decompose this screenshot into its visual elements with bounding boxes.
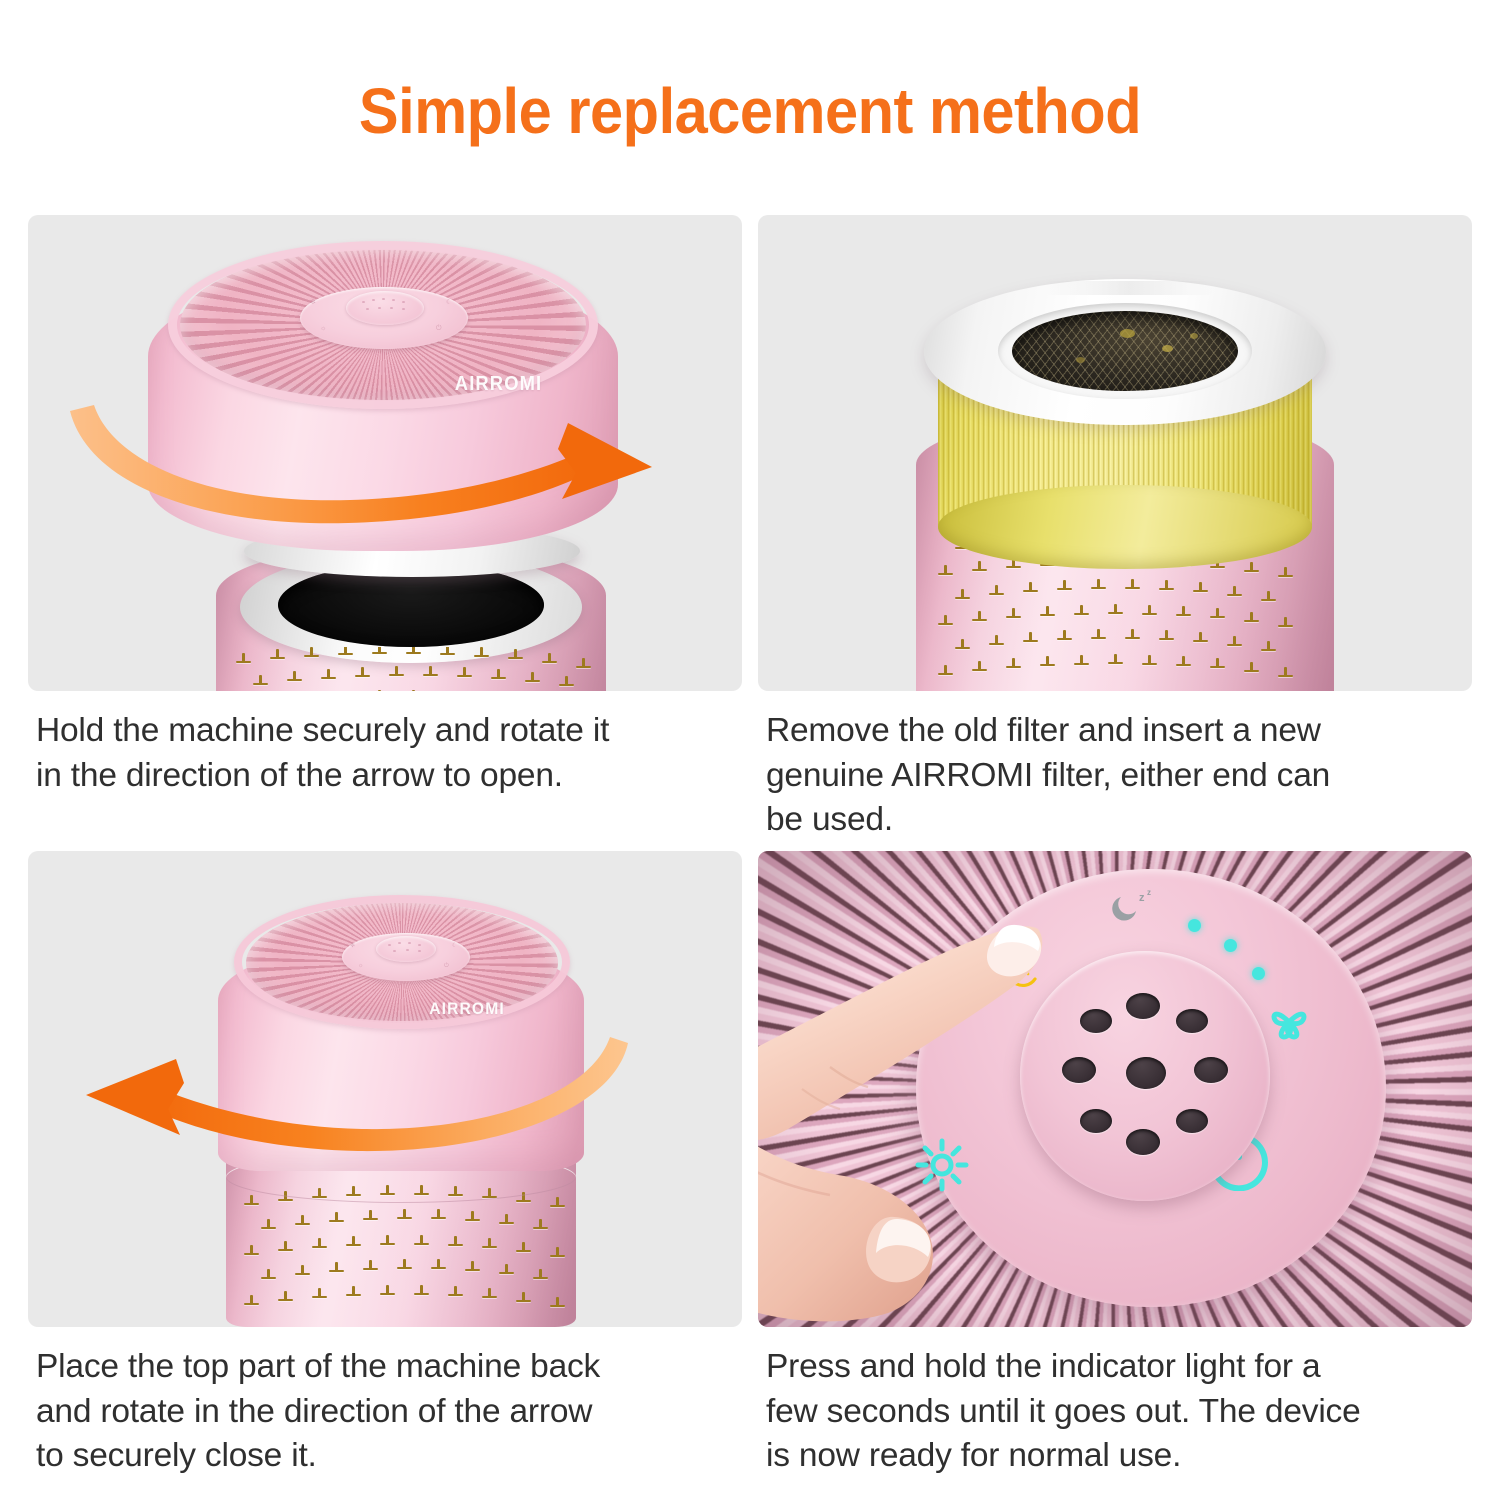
rotate-arrow-icon <box>28 851 742 1327</box>
caption-line: Remove the old filter and insert a new <box>766 709 1466 754</box>
step-4-caption: Press and hold the indicator light for a… <box>766 1345 1466 1479</box>
step-1-photo: ✻ ☾ ☼ ⏻ AIRROMI <box>28 215 742 691</box>
dust-specks <box>1012 311 1238 391</box>
caption-line: to securely close it. <box>36 1434 736 1479</box>
steps-grid: ✻ ☾ ☼ ⏻ AIRROMI Hol <box>28 215 1472 1483</box>
caption-line: and rotate in the direction of the arrow <box>36 1390 736 1435</box>
filter-cap-text <box>1044 281 1214 295</box>
svg-text:z: z <box>1147 888 1151 897</box>
caption-line: Hold the machine securely and rotate it <box>36 709 736 754</box>
speed-indicator-dot-2 <box>1224 939 1237 952</box>
step-1-caption: Hold the machine securely and rotate it … <box>36 709 736 798</box>
step-card-2: Remove the old filter and insert a new g… <box>758 215 1472 847</box>
step-3-photo: ✻ ☾ ☼ ⏻ AIRROMI <box>28 851 742 1327</box>
step-card-1: ✻ ☾ ☼ ⏻ AIRROMI Hol <box>28 215 742 847</box>
step-4-photo: z z <box>758 851 1472 1327</box>
filter-media-bottom <box>938 485 1312 569</box>
caption-line: in the direction of the arrow to open. <box>36 754 736 799</box>
hand-pressing-icon <box>758 917 1078 1327</box>
step-2-photo <box>758 215 1472 691</box>
speed-indicator-dot-1 <box>1188 919 1201 932</box>
svg-text:z: z <box>1139 892 1145 904</box>
fan-speed-icon[interactable] <box>1260 993 1318 1051</box>
moon-sleep-icon[interactable]: z z <box>1106 887 1162 931</box>
fan-speed-glyph <box>1260 993 1318 1051</box>
caption-line: few seconds until it goes out. The devic… <box>766 1390 1466 1435</box>
speed-indicator-dot-3 <box>1252 967 1265 980</box>
step-2-caption: Remove the old filter and insert a new g… <box>766 709 1466 843</box>
page-title: Simple replacement method <box>53 74 1448 148</box>
moon-sleep-glyph: z z <box>1106 887 1162 931</box>
caption-line: Press and hold the indicator light for a <box>766 1345 1466 1390</box>
caption-line: is now ready for normal use. <box>766 1434 1466 1479</box>
step-card-3: ✻ ☾ ☼ ⏻ AIRROMI Place the <box>28 851 742 1483</box>
step-card-4: z z <box>758 851 1472 1483</box>
caption-line: genuine AIRROMI filter, either end can <box>766 754 1466 799</box>
caption-line: Place the top part of the machine back <box>36 1345 736 1390</box>
caption-line: be used. <box>766 798 1466 843</box>
rotate-arrow-icon <box>28 215 742 691</box>
step-3-caption: Place the top part of the machine back a… <box>36 1345 736 1479</box>
